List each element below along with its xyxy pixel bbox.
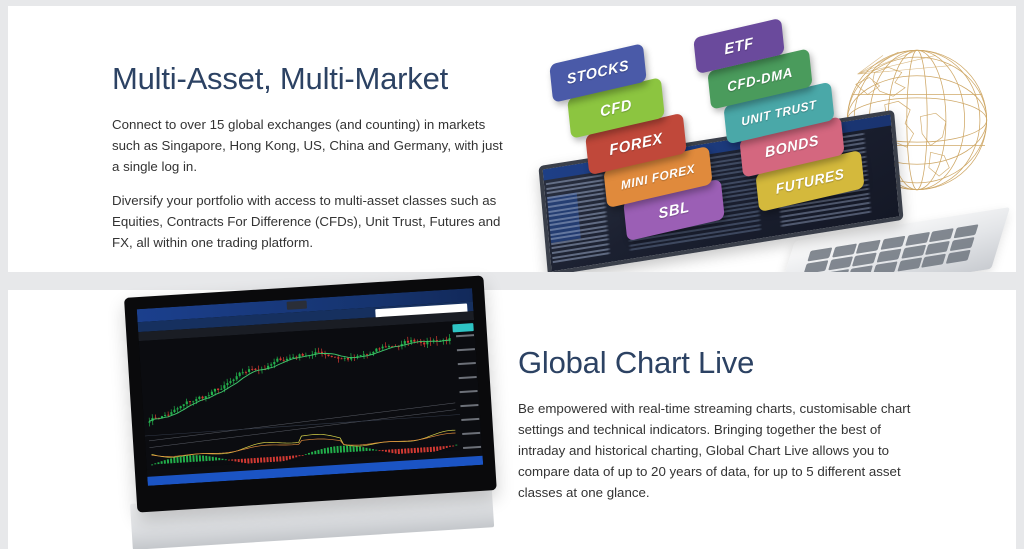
- menubar-tab-charts[interactable]: [287, 301, 307, 310]
- multi-asset-text-block: Multi-Asset, Multi-Market Connect to ove…: [112, 61, 512, 253]
- page-title-global-chart: Global Chart Live: [518, 345, 918, 381]
- multi-asset-paragraph-1: Connect to over 15 global exchanges (and…: [112, 114, 512, 177]
- candlestick-chart-canvas: [139, 320, 482, 470]
- global-chart-text-block: Global Chart Live Be empowered with real…: [518, 345, 918, 503]
- illustration-global-chart: [124, 298, 496, 549]
- candlestick-chart: [139, 320, 482, 470]
- multi-asset-paragraph-2: Diversify your portfolio with access to …: [112, 190, 512, 253]
- monitor-screen: [137, 288, 483, 486]
- monitor-body: [124, 275, 497, 512]
- global-chart-paragraph-1: Be empowered with real-time streaming ch…: [518, 398, 918, 503]
- page-title-multi-asset: Multi-Asset, Multi-Market: [112, 61, 512, 97]
- illustration-multi-asset: STOCKSCFDFOREXMINI FOREXSBLETFCFD-DMAUNI…: [528, 16, 1008, 272]
- page-root: STOCKSCFDFOREXMINI FOREXSBLETFCFD-DMAUNI…: [0, 0, 1024, 549]
- section-multi-asset: STOCKSCFDFOREXMINI FOREXSBLETFCFD-DMAUNI…: [8, 6, 1016, 272]
